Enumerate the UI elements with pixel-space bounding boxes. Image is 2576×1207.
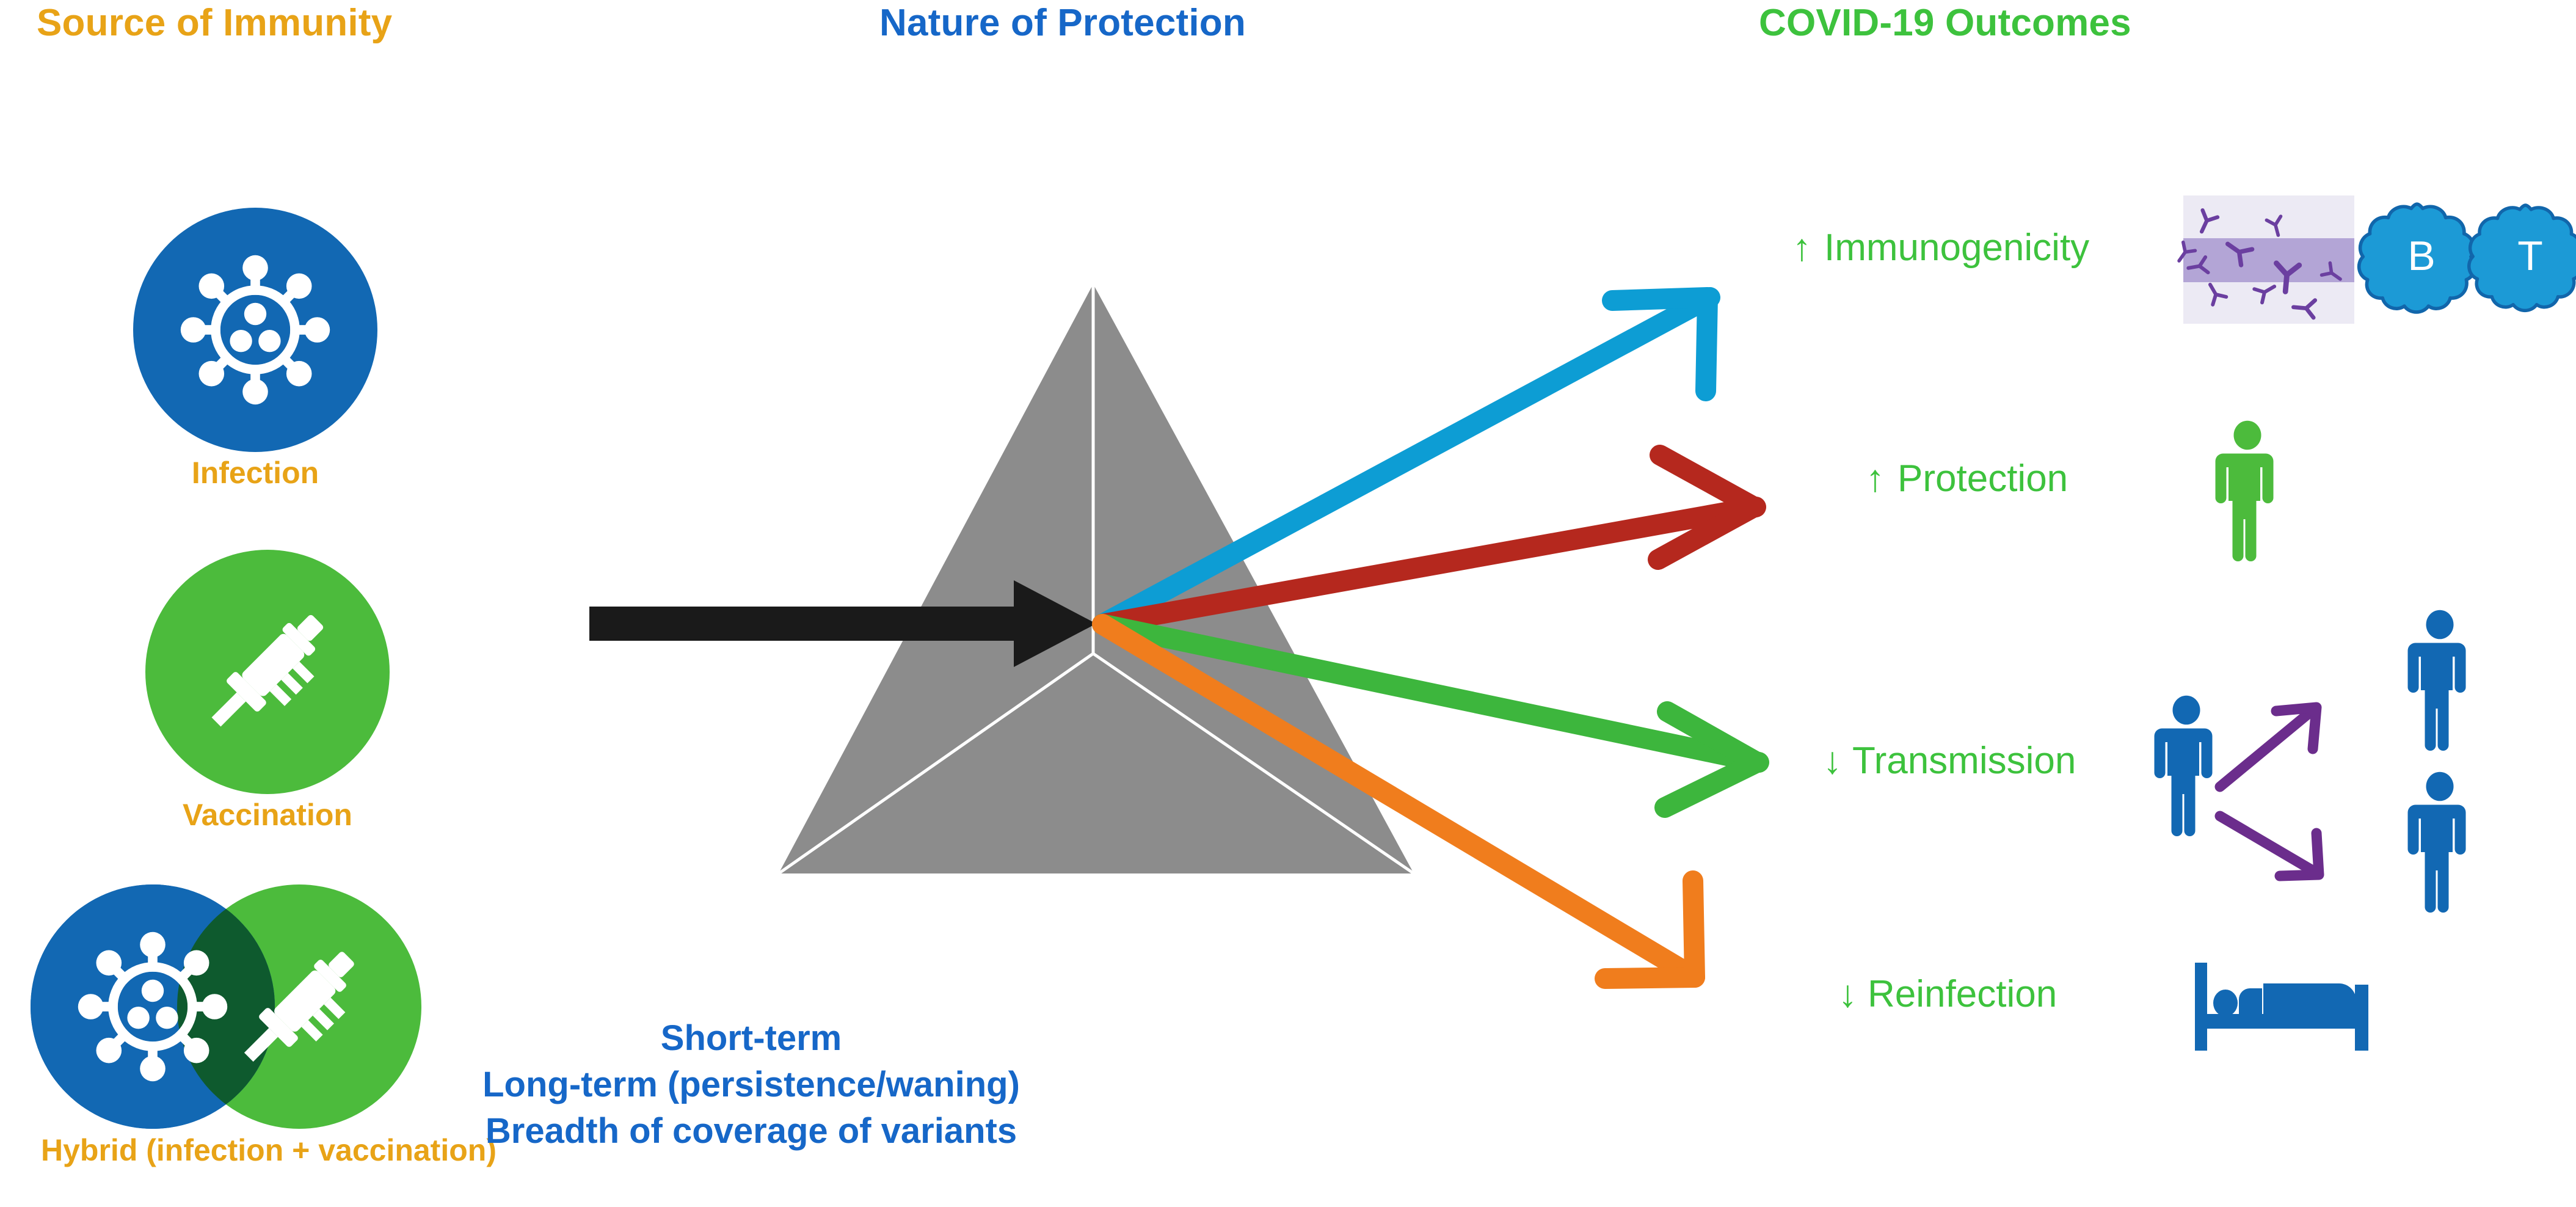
outcome-row-immunogenicity[interactable]: ↑ Immunogenicity — [1792, 195, 2562, 330]
t-cell-label: T — [2500, 232, 2561, 280]
outcome-label-immunogenicity: Immunogenicity — [1824, 226, 2089, 269]
nature-caption-line-3: Breadth of coverage of variants — [18, 1110, 1484, 1151]
outcome-direction-immunogenicity: ↑ — [1792, 226, 1811, 269]
nature-caption-line-2: Long-term (persistence/waning) — [18, 1064, 1484, 1105]
green-person-icon — [2214, 421, 2281, 562]
outcome-row-protection[interactable]: ↑ Protection — [1866, 421, 2415, 562]
outcome-row-reinfection[interactable]: ↓ Reinfection — [1838, 959, 2449, 1081]
antibody-panel-icon — [2183, 195, 2354, 324]
transmission-target-person-icon-top — [2406, 611, 2473, 751]
outcome-label-transmission: Transmission — [1852, 739, 2076, 782]
hospital-bed-icon — [2192, 960, 2376, 1058]
outcome-direction-protection: ↑ — [1866, 457, 1885, 500]
outcome-direction-transmission: ↓ — [1823, 739, 1842, 782]
outcome-label-protection: Protection — [1897, 457, 2068, 500]
transmission-target-person-icon-bottom — [2406, 773, 2473, 913]
immunity-input-ray — [589, 580, 1096, 667]
nature-caption-line-1: Short-term — [18, 1018, 1484, 1059]
b-cell-label: B — [2391, 232, 2452, 280]
transmission-arrow-icon — [2202, 672, 2421, 892]
outcome-label-reinfection: Reinfection — [1868, 972, 2057, 1016]
outcome-row-transmission[interactable]: ↓ Transmission — [1823, 611, 2556, 928]
outcome-direction-reinfection: ↓ — [1838, 972, 1857, 1016]
